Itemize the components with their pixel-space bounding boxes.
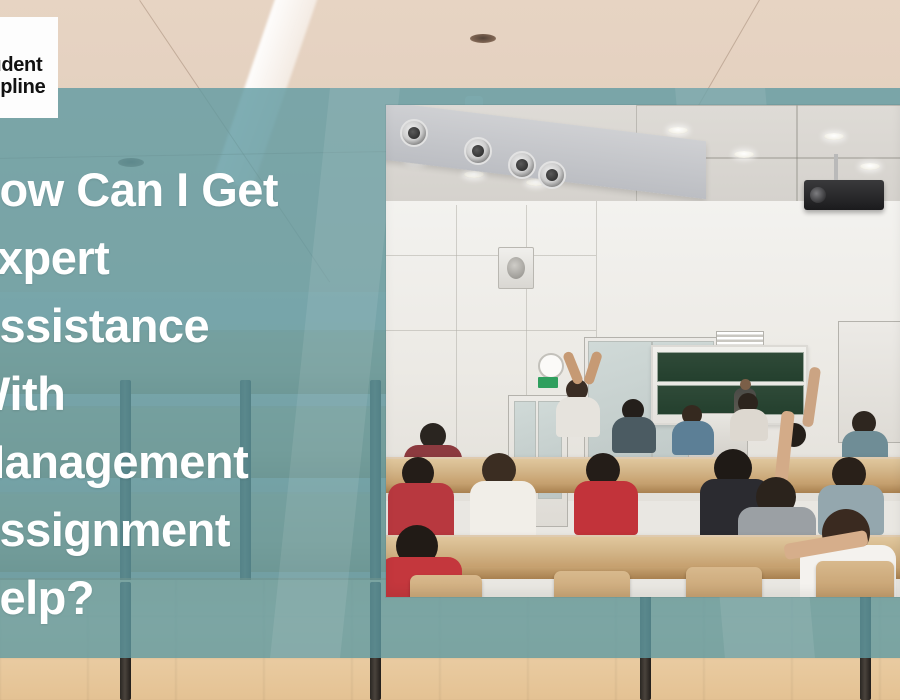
photo-ceiling-speaker-icon: [400, 119, 428, 147]
photo-student: [672, 421, 714, 455]
site-logo[interactable]: The Student Helpline: [0, 17, 58, 118]
promotional-banner: The Student Helpline How Can I Get Exper…: [0, 0, 900, 700]
logo-line-the: The: [0, 37, 58, 54]
photo-projector-icon: [804, 180, 884, 210]
logo-line-student: Student: [0, 54, 58, 76]
photo-downlight: [668, 127, 688, 134]
photo-wall-seam: [456, 205, 457, 465]
photo-student: [556, 397, 600, 437]
photo-ceiling-speaker-icon: [538, 161, 566, 189]
photo-ceiling-speaker-icon: [464, 137, 492, 165]
logo-line-helpline: Helpline: [0, 76, 58, 98]
photo-wall-speaker-icon: [498, 247, 534, 289]
photo-clock-icon: [538, 353, 564, 379]
background-ceiling-spotlight: [470, 34, 496, 43]
photo-student: [470, 481, 536, 539]
photo-student: [612, 417, 656, 453]
headline-title: How Can I Get Expert Assistance With Man…: [0, 156, 386, 632]
photo-student: [574, 481, 638, 535]
photo-wall-seam: [386, 330, 596, 331]
photo-wall-seam: [386, 255, 596, 256]
photo-chalkboard-surface: [657, 352, 804, 382]
photo-chair: [686, 567, 762, 597]
photo-desk-row: [386, 457, 900, 485]
photo-downlight: [824, 133, 844, 140]
photo-student: [730, 409, 768, 441]
photo-downlight: [464, 171, 484, 178]
lecture-hall-photo: [386, 105, 900, 597]
photo-chair: [554, 571, 630, 597]
photo-exit-sign-icon: [538, 377, 558, 388]
photo-ceiling-speaker-icon: [508, 151, 536, 179]
photo-downlight: [734, 151, 754, 158]
photo-chair: [816, 561, 894, 597]
photo-downlight: [860, 163, 880, 170]
photo-chalkboard-surface: [657, 385, 804, 415]
photo-ceiling-panel: [796, 105, 900, 159]
photo-chair: [410, 575, 482, 597]
